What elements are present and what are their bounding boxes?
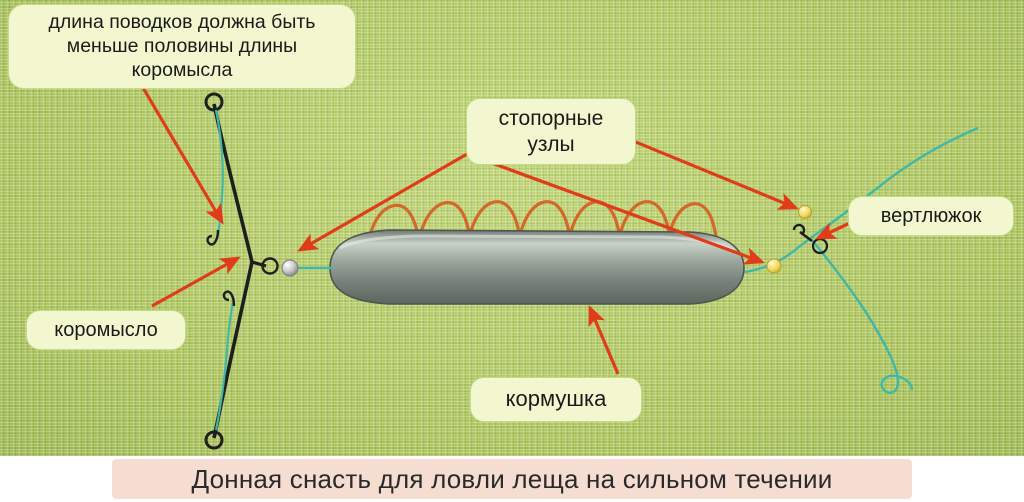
hook-upper xyxy=(208,230,218,244)
callout-stopper-knots: стопорные узлы xyxy=(466,98,636,165)
bead xyxy=(282,260,298,276)
arrow-leash-to-hook xyxy=(142,86,222,222)
diagram-scene: длина поводков должна быть меньше полови… xyxy=(0,0,1024,502)
stopper-knot-lower xyxy=(767,259,781,273)
stopper-knot-upper xyxy=(799,206,812,219)
diagram-title-banner: Донная снасть для ловли леща на сильном … xyxy=(112,459,912,499)
line-tail xyxy=(812,240,912,393)
callout-koromyslo: коромысло xyxy=(26,310,186,350)
arrow-feeder xyxy=(590,308,618,374)
arrow-stoppers-to-upper-knot xyxy=(626,138,796,208)
feeder-body xyxy=(330,230,744,304)
boom-rod xyxy=(214,104,252,438)
callout-feeder: кормушка xyxy=(470,377,642,422)
callout-leash-length: длина поводков должна быть меньше полови… xyxy=(8,4,356,89)
callout-swivel: вертлюжок xyxy=(848,196,1014,236)
